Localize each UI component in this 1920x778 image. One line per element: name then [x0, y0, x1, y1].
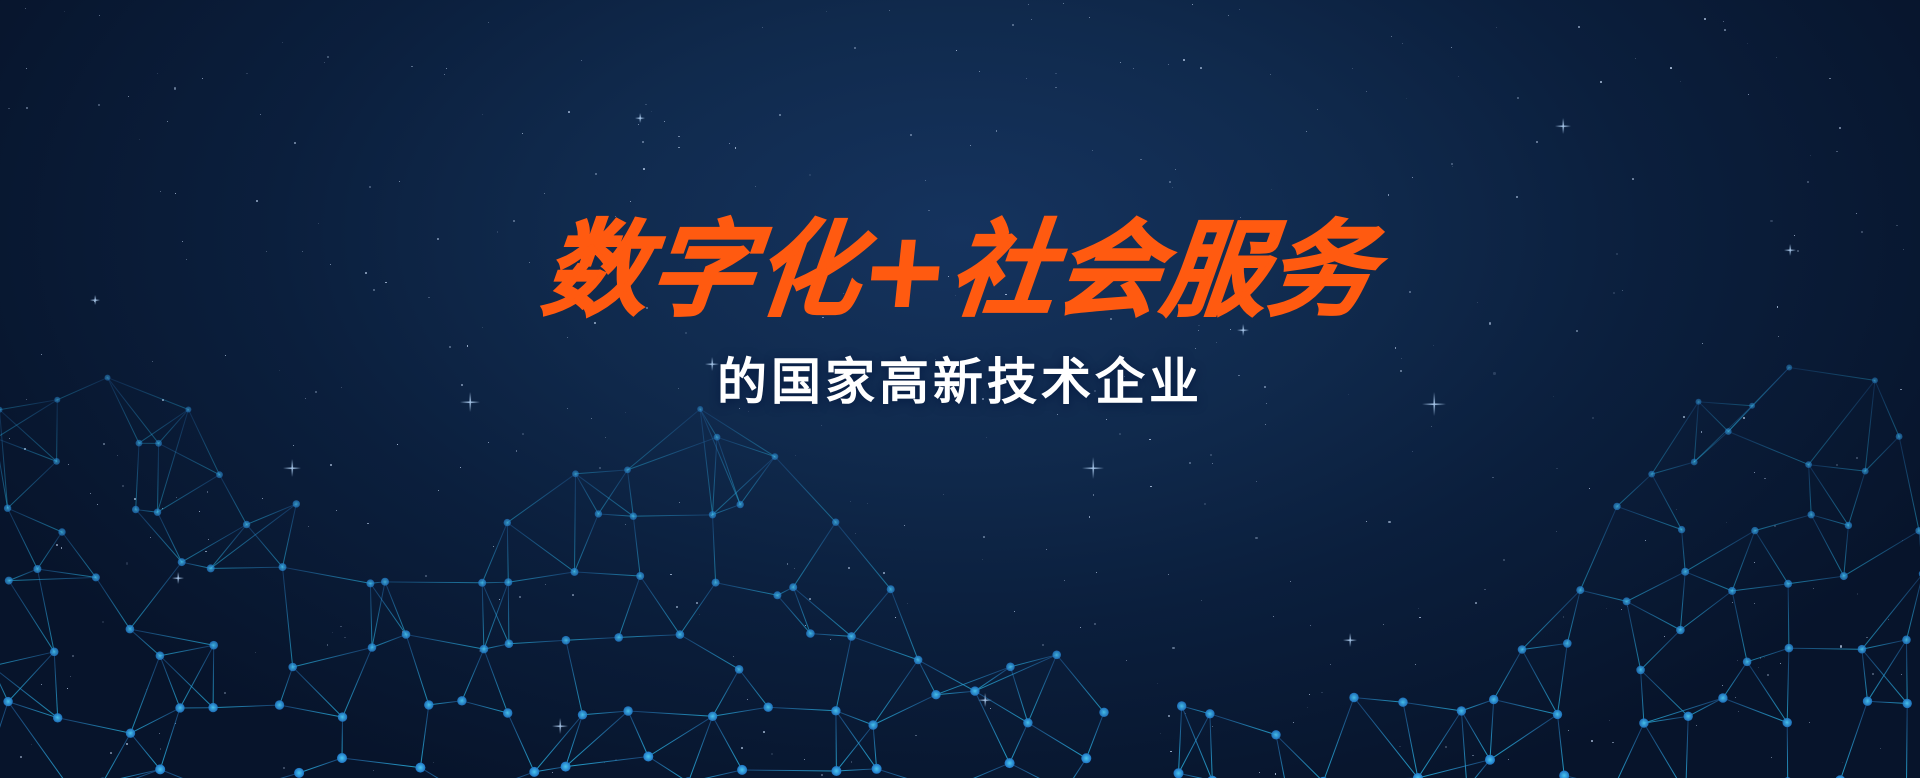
- hero-banner: 数字化+社会服务 的国家高新技术企业: [0, 0, 1920, 778]
- network-mesh-graphic: [0, 258, 1920, 778]
